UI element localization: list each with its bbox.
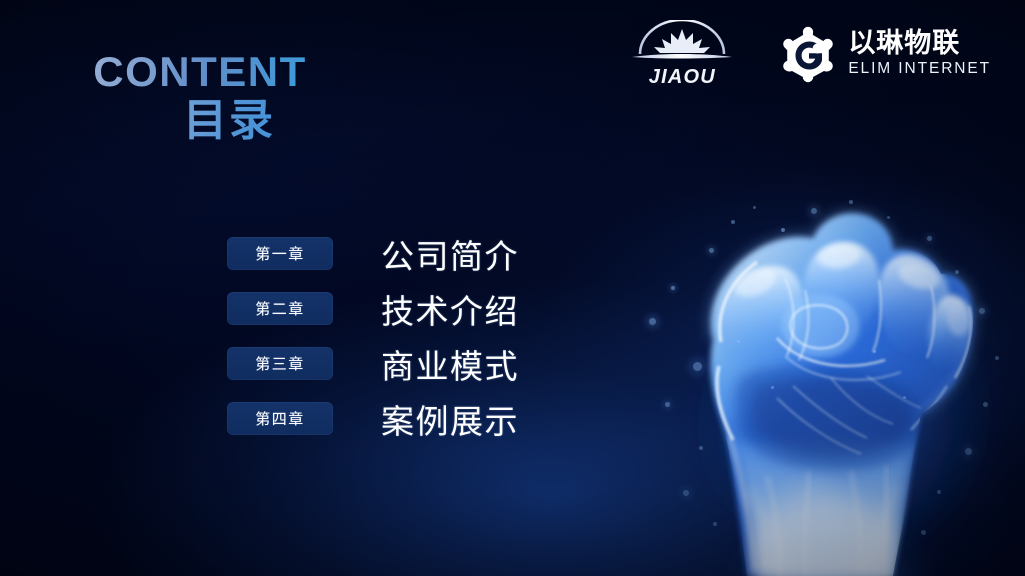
chapter-badge-label: 第四章 bbox=[255, 408, 305, 429]
jiaou-logo[interactable]: JIAOU bbox=[630, 20, 734, 87]
slide-canvas: JIAOU bbox=[0, 0, 1025, 576]
chapter-badge-label: 第二章 bbox=[255, 298, 305, 319]
elim-internet-logo[interactable]: 以琳物联 ELIM INTERNET bbox=[778, 25, 991, 83]
chapter-badge-1[interactable]: 第一章 bbox=[227, 237, 333, 270]
elim-logo-cn-name: 以琳物联 bbox=[848, 30, 991, 57]
title-english: CONTENT bbox=[0, 50, 400, 94]
chapter-title-3[interactable]: 商业模式 bbox=[381, 340, 519, 388]
chapter-badge-3[interactable]: 第三章 bbox=[227, 347, 333, 380]
elim-logo-en-name: ELIM INTERNET bbox=[848, 61, 991, 77]
hexagon-g-node-icon bbox=[778, 25, 838, 83]
chapter-title-4[interactable]: 案例展示 bbox=[381, 395, 519, 443]
arch-crown-icon bbox=[630, 20, 734, 66]
chapter-badge-label: 第一章 bbox=[255, 243, 305, 264]
chapter-title-1[interactable]: 公司简介 bbox=[381, 230, 519, 278]
jiaou-wordmark: JIAOU bbox=[649, 67, 716, 87]
chapter-badge-2[interactable]: 第二章 bbox=[227, 292, 333, 325]
list-item[interactable]: 第二章 技术介绍 bbox=[227, 281, 519, 336]
chapter-title-2[interactable]: 技术介绍 bbox=[381, 285, 519, 333]
list-item[interactable]: 第三章 商业模式 bbox=[227, 336, 519, 391]
chapter-list: 第一章 公司简介 第二章 技术介绍 第三章 商业模式 第四章 案例展示 bbox=[227, 226, 519, 446]
title-chinese: 目录 bbox=[0, 98, 400, 144]
header-logos: JIAOU bbox=[630, 20, 991, 87]
chapter-badge-4[interactable]: 第四章 bbox=[227, 402, 333, 435]
chapter-badge-label: 第三章 bbox=[255, 353, 305, 374]
list-item[interactable]: 第一章 公司简介 bbox=[227, 226, 519, 281]
page-title: CONTENT 目录 bbox=[0, 50, 400, 144]
list-item[interactable]: 第四章 案例展示 bbox=[227, 391, 519, 446]
